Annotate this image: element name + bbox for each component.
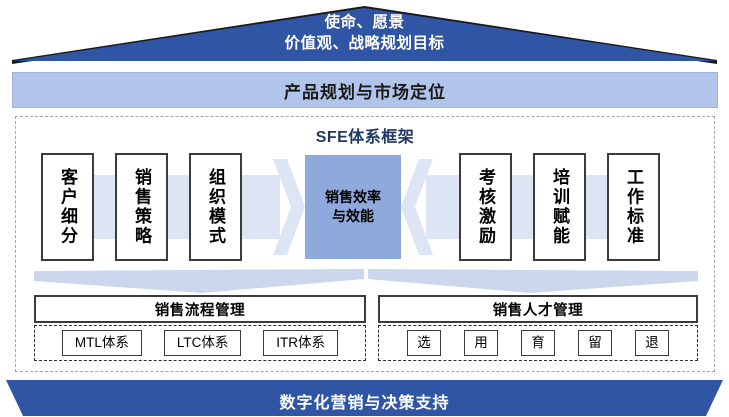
chevron-band-right-icon xyxy=(368,269,698,295)
arrow-left-icon xyxy=(401,159,433,255)
flow-box-work-standards[interactable]: 工作标准 xyxy=(607,153,660,261)
footer-trapezoid-icon xyxy=(6,380,723,416)
flow-box-training-enablement[interactable]: 培训赋能 xyxy=(533,153,586,261)
roof-triangle-icon xyxy=(10,4,719,66)
footer-shape[interactable]: 数字化营销与决策支持 xyxy=(6,380,723,416)
flow-box-label: 销售策略 xyxy=(133,168,150,246)
chip-select[interactable]: 选 xyxy=(407,330,441,356)
chip-itr[interactable]: ITR体系 xyxy=(263,330,338,356)
group-chip-container: 选 用 育 留 退 xyxy=(378,325,698,361)
product-positioning-label: 产品规划与市场定位 xyxy=(284,78,446,103)
flow-box-sales-strategy[interactable]: 销售策略 xyxy=(115,153,168,261)
chip-mtl[interactable]: MTL体系 xyxy=(62,330,142,356)
flow-row: 客户细分 销售策略 组织模式 销售效率 与效能 考核激励 培训赋能 xyxy=(16,153,714,271)
arrow-right-icon xyxy=(273,159,305,255)
chip-exit[interactable]: 退 xyxy=(635,330,669,356)
chip-ltc[interactable]: LTC体系 xyxy=(164,330,242,356)
chip-deploy[interactable]: 用 xyxy=(464,330,498,356)
chip-develop[interactable]: 育 xyxy=(521,330,555,356)
chevron-band-left-icon xyxy=(34,269,364,295)
roof-shape: 使命、愿景 价值观、战略规划目标 xyxy=(10,4,719,66)
center-box-line-2: 与效能 xyxy=(325,207,381,226)
flow-box-label: 考核激励 xyxy=(477,168,494,246)
flow-box-assessment-incentive[interactable]: 考核激励 xyxy=(459,153,512,261)
sfe-framework-title: SFE体系框架 xyxy=(16,123,714,147)
center-box-sales-efficiency[interactable]: 销售效率 与效能 xyxy=(305,155,401,259)
flow-box-label: 工作标准 xyxy=(625,168,642,246)
group-sales-talent-management: 销售人才管理 选 用 育 留 退 xyxy=(378,295,698,361)
center-box-line-1: 销售效率 xyxy=(325,188,381,207)
group-title: 销售流程管理 xyxy=(34,295,366,323)
group-title: 销售人才管理 xyxy=(378,295,698,323)
flow-box-label: 组织模式 xyxy=(207,168,224,246)
group-sales-process-management: 销售流程管理 MTL体系 LTC体系 ITR体系 xyxy=(34,295,366,361)
flow-box-label: 客户细分 xyxy=(59,168,76,246)
diagram-canvas: 使命、愿景 价值观、战略规划目标 产品规划与市场定位 SFE体系框架 xyxy=(0,0,729,417)
product-positioning-band[interactable]: 产品规划与市场定位 xyxy=(12,72,718,108)
flow-box-label: 培训赋能 xyxy=(551,168,568,246)
chip-retain[interactable]: 留 xyxy=(578,330,612,356)
group-chip-container: MTL体系 LTC体系 ITR体系 xyxy=(34,325,366,361)
flow-box-org-model[interactable]: 组织模式 xyxy=(189,153,242,261)
flow-box-customer-segmentation[interactable]: 客户细分 xyxy=(41,153,94,261)
sfe-framework-container: SFE体系框架 客户细分 销售策略 xyxy=(15,116,715,372)
